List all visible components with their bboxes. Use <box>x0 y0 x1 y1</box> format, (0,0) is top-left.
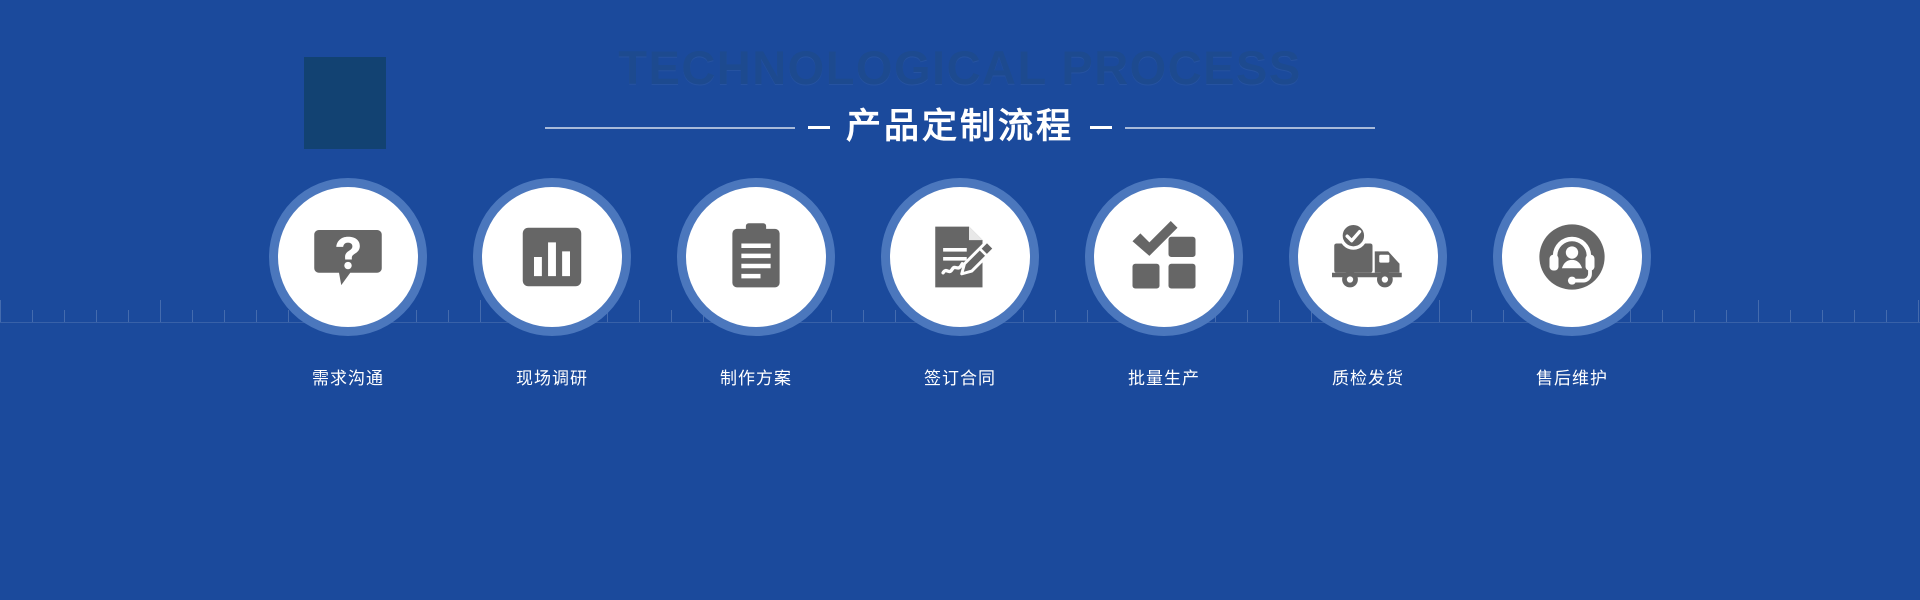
page-title: 产品定制流程 <box>830 110 1090 145</box>
step-label: 需求沟通 <box>312 364 384 389</box>
clipboard-icon <box>720 221 792 293</box>
process-step[interactable]: 批量生产 <box>1084 178 1244 389</box>
bar-chart-icon <box>516 221 588 293</box>
step-label: 批量生产 <box>1128 364 1200 389</box>
question-bubble-icon <box>312 221 384 293</box>
step-label: 制作方案 <box>720 364 792 389</box>
process-step[interactable]: 质检发货 <box>1288 178 1448 389</box>
step-circle-7[interactable] <box>1493 178 1651 336</box>
process-step[interactable]: 需求沟通 <box>268 178 428 389</box>
step-label: 签订合同 <box>924 364 996 389</box>
delivery-truck-icon <box>1332 221 1404 293</box>
step-label: 现场调研 <box>516 364 588 389</box>
process-steps: 需求沟通 现场调研 <box>0 178 1920 389</box>
banner-header: TECHNOLOGICAL PROCESS 产品定制流程 <box>0 44 1920 145</box>
process-step[interactable]: 签订合同 <box>880 178 1040 389</box>
process-step[interactable]: 现场调研 <box>472 178 632 389</box>
step-circle-2[interactable] <box>473 178 631 336</box>
process-step[interactable]: 售后维护 <box>1492 178 1652 389</box>
step-circle-1[interactable] <box>269 178 427 336</box>
checklist-blocks-icon <box>1128 221 1200 293</box>
dash-left-icon <box>808 126 830 129</box>
step-label: 质检发货 <box>1332 364 1404 389</box>
step-circle-6[interactable] <box>1289 178 1447 336</box>
dash-right-icon <box>1090 126 1112 129</box>
process-step[interactable]: 制作方案 <box>676 178 836 389</box>
step-circle-4[interactable] <box>881 178 1039 336</box>
ghost-title: TECHNOLOGICAL PROCESS <box>0 44 1920 91</box>
headset-support-icon <box>1536 221 1608 293</box>
process-banner: TECHNOLOGICAL PROCESS 产品定制流程 <box>0 0 1920 600</box>
subtitle-row: 产品定制流程 <box>0 110 1920 145</box>
rule-right <box>1125 127 1375 129</box>
step-circle-3[interactable] <box>677 178 835 336</box>
step-label: 售后维护 <box>1536 364 1608 389</box>
step-circle-5[interactable] <box>1085 178 1243 336</box>
contract-sign-icon <box>924 221 996 293</box>
rule-left <box>545 127 795 129</box>
